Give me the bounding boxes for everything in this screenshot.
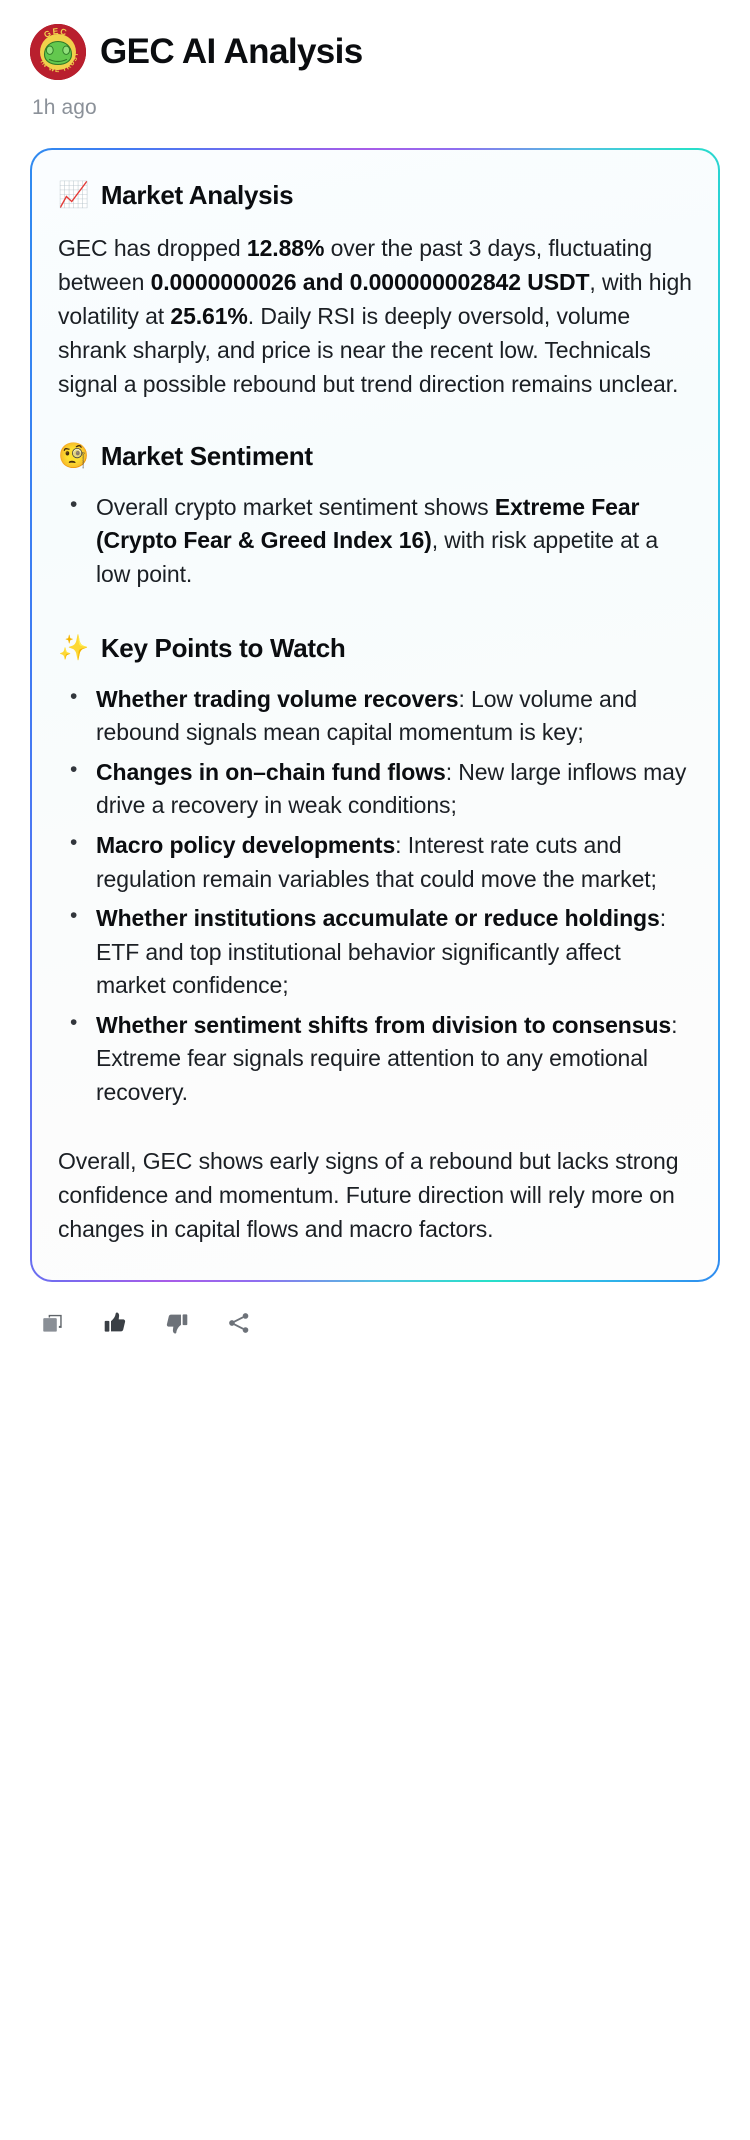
gec-logo: GEC IN WE TRUST (30, 24, 86, 80)
list-item: Macro policy developments: Interest rate… (58, 829, 692, 896)
list-item: Overall crypto market sentiment shows Ex… (58, 491, 692, 592)
market-analysis-paragraph: GEC has dropped 12.88% over the past 3 d… (58, 231, 692, 401)
timestamp: 1h ago (32, 96, 720, 120)
chart-increasing-icon: 📈 (58, 180, 89, 211)
thumbs-up-icon (102, 1310, 128, 1336)
copy-button[interactable] (38, 1308, 68, 1338)
section-heading-key-points: ✨ Key Points to Watch (58, 633, 692, 664)
list-item: Changes in on–chain fund flows: New larg… (58, 756, 692, 823)
closing-paragraph: Overall, GEC shows early signs of a rebo… (58, 1144, 692, 1246)
section-title: Key Points to Watch (101, 633, 346, 664)
key-points-bullets: Whether trading volume recovers: Low vol… (58, 683, 692, 1110)
share-icon (226, 1310, 252, 1336)
thumbs-up-button[interactable] (100, 1308, 130, 1338)
thumbs-down-icon (164, 1310, 190, 1336)
ai-analysis-page: GEC IN WE TRUST GEC AI Analysis 1h ago 📈… (0, 0, 750, 2140)
message-actions (30, 1282, 720, 1362)
copy-icon (40, 1310, 66, 1336)
section-title: Market Sentiment (101, 441, 313, 472)
analysis-card-body: 📈 Market Analysis GEC has dropped 12.88%… (32, 150, 718, 1280)
list-item: Whether sentiment shifts from division t… (58, 1009, 692, 1110)
section-title: Market Analysis (101, 180, 294, 211)
sparkles-icon: ✨ (58, 633, 89, 664)
section-heading-market-sentiment: 🧐 Market Sentiment (58, 441, 692, 472)
analysis-card: 📈 Market Analysis GEC has dropped 12.88%… (30, 148, 720, 1282)
thumbs-down-button[interactable] (162, 1308, 192, 1338)
face-with-monocle-icon: 🧐 (58, 441, 89, 472)
page-header: GEC IN WE TRUST GEC AI Analysis (30, 18, 720, 80)
section-heading-market-analysis: 📈 Market Analysis (58, 180, 692, 211)
page-title: GEC AI Analysis (100, 32, 363, 71)
share-button[interactable] (224, 1308, 254, 1338)
list-item: Whether institutions accumulate or reduc… (58, 902, 692, 1003)
list-item: Whether trading volume recovers: Low vol… (58, 683, 692, 750)
market-sentiment-bullets: Overall crypto market sentiment shows Ex… (58, 491, 692, 592)
